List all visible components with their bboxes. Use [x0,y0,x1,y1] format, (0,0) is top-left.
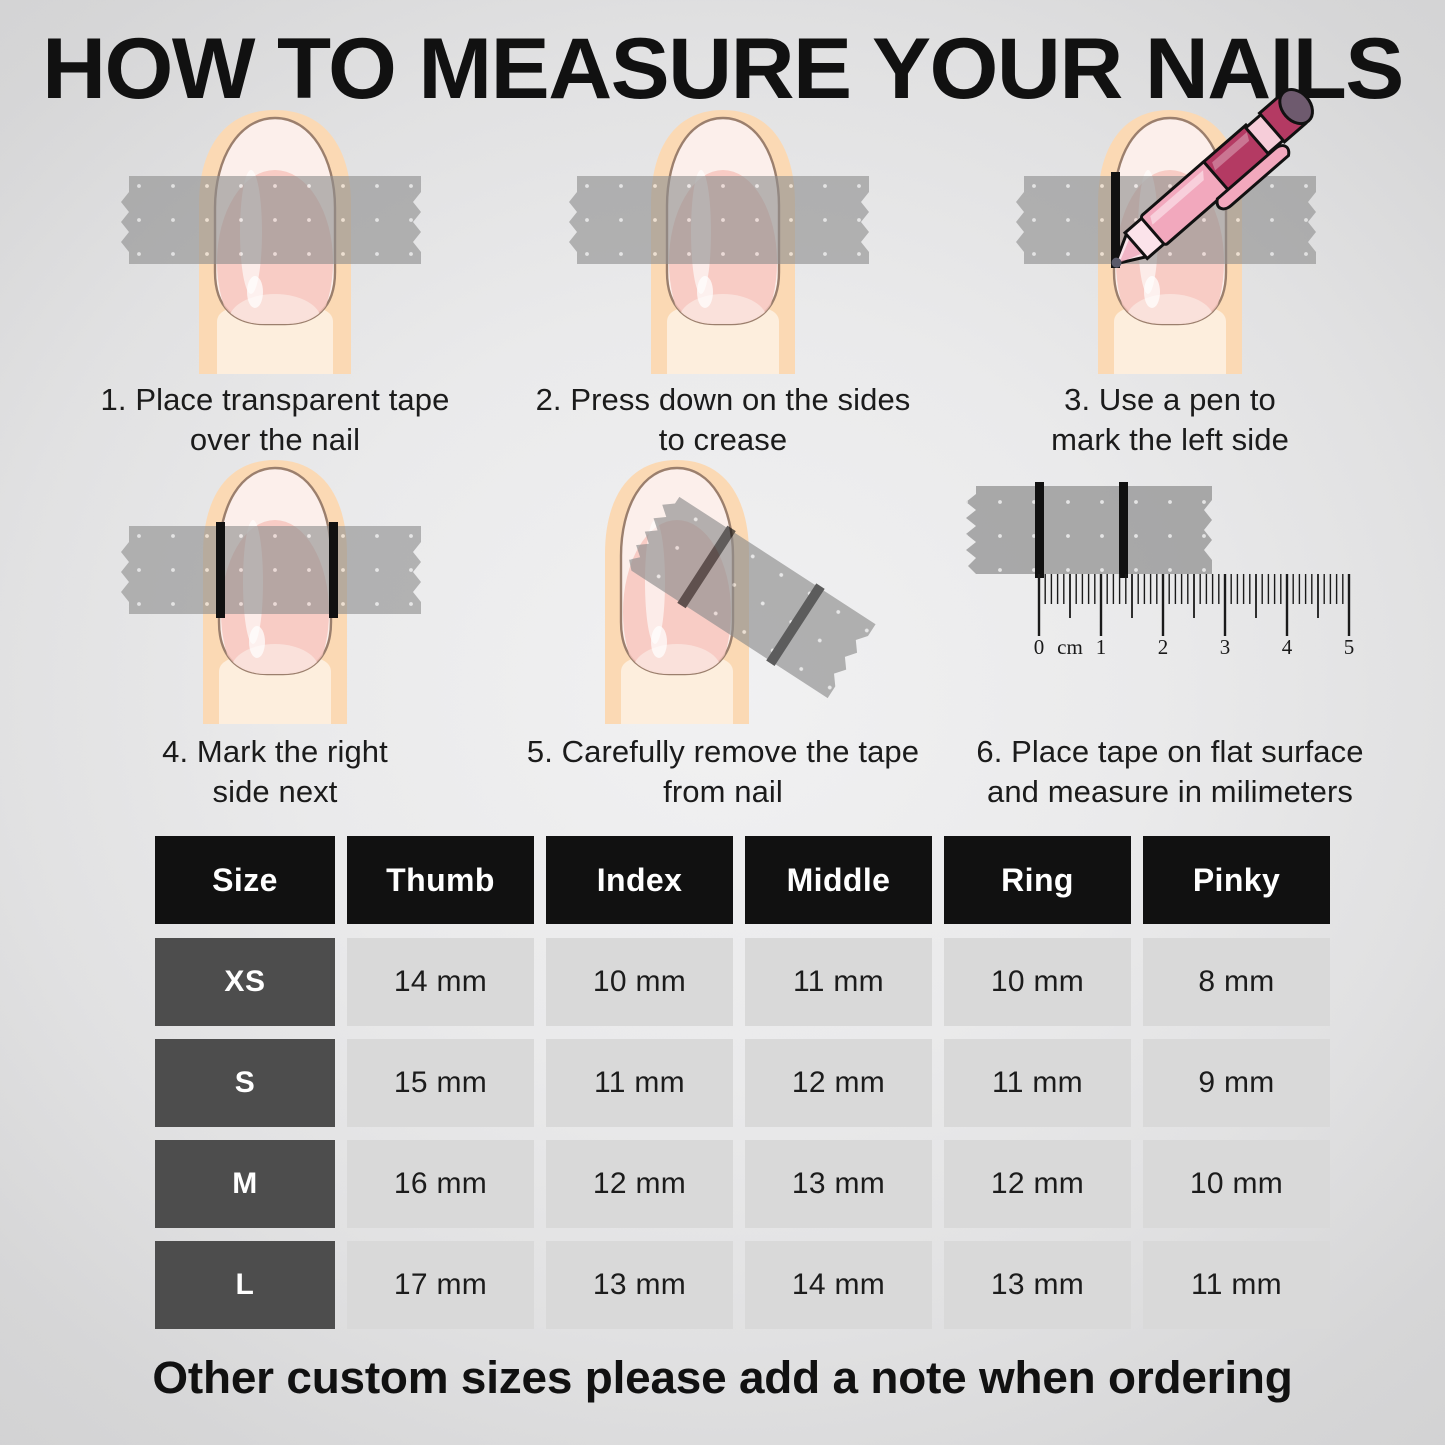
size-label-s: S [155,1039,335,1127]
table-header-size: Size [155,836,335,924]
step-3-caption-line1: 3. Use a pen to [960,380,1380,420]
step-5-illustration [513,462,933,724]
pen-mark-right [329,522,338,618]
cell-m-middle: 13 mm [745,1140,932,1228]
step-2-illustration [513,112,933,374]
table-row: M 16 mm 12 mm 13 mm 12 mm 10 mm [155,1140,1330,1228]
table-row: XS 14 mm 10 mm 11 mm 10 mm 8 mm [155,938,1330,1026]
step-3-caption: 3. Use a pen to mark the left side [960,380,1380,461]
step-6-caption-line2: and measure in milimeters [960,772,1380,812]
cell-s-ring: 11 mm [944,1039,1131,1127]
cell-s-thumb: 15 mm [347,1039,534,1127]
step-2-caption-line1: 2. Press down on the sides [513,380,933,420]
step-4-caption-line1: 4. Mark the right [65,732,485,772]
step-3: 3. Use a pen to mark the left side [960,112,1380,461]
ruler-unit-label: cm [1057,635,1083,659]
step-5: 5. Carefully remove the tape from nail [513,462,933,813]
step-3-illustration [960,112,1380,374]
step-1-caption-line2: over the nail [65,420,485,460]
ruler-tick-4: 4 [1282,635,1293,659]
tape-strip [121,176,421,264]
cell-l-ring: 13 mm [944,1241,1131,1329]
cell-xs-middle: 11 mm [745,938,932,1026]
table-header-middle: Middle [745,836,932,924]
step-4-illustration [65,462,485,724]
step-1-caption-line1: 1. Place transparent tape [65,380,485,420]
size-label-xs: XS [155,938,335,1026]
cell-xs-pinky: 8 mm [1143,938,1330,1026]
table-header-row: Size Thumb Index Middle Ring Pinky [155,836,1330,924]
infographic-page: HOW TO MEASURE YOUR NAILS [0,0,1445,1445]
ruler-icon [1039,574,1349,636]
table-header-index: Index [546,836,733,924]
step-3-caption-line2: mark the left side [960,420,1380,460]
step-2-caption: 2. Press down on the sides to crease [513,380,933,461]
pen-mark-right [1119,482,1128,578]
footer-note: Other custom sizes please add a note whe… [0,1352,1445,1404]
ruler-tick-5: 5 [1344,635,1355,659]
ruler-tick-3: 3 [1220,635,1231,659]
table-row: L 17 mm 13 mm 14 mm 13 mm 11 mm [155,1241,1330,1329]
cell-s-middle: 12 mm [745,1039,932,1127]
cell-s-pinky: 9 mm [1143,1039,1330,1127]
ruler-labels: 0 cm 1 2 3 4 5 [1034,635,1355,659]
table-header-thumb: Thumb [347,836,534,924]
pen-mark-left [1035,482,1044,578]
cell-m-pinky: 10 mm [1143,1140,1330,1228]
step-2-caption-line2: to crease [513,420,933,460]
step-2: 2. Press down on the sides to crease [513,112,933,461]
cell-l-pinky: 11 mm [1143,1241,1330,1329]
step-1-caption: 1. Place transparent tape over the nail [65,380,485,461]
step-6-caption-line1: 6. Place tape on flat surface [960,732,1380,772]
size-label-m: M [155,1140,335,1228]
size-table: Size Thumb Index Middle Ring Pinky XS 14… [155,836,1330,1342]
step-5-caption-line1: 5. Carefully remove the tape [513,732,933,772]
cell-xs-ring: 10 mm [944,938,1131,1026]
step-4: 4. Mark the right side next [65,462,485,813]
ruler-tick-2: 2 [1158,635,1169,659]
step-6-caption: 6. Place tape on flat surface and measur… [960,732,1380,813]
tape-strip [121,526,421,614]
cell-xs-index: 10 mm [546,938,733,1026]
page-title: HOW TO MEASURE YOUR NAILS [0,26,1445,112]
step-1-illustration [65,112,485,374]
step-1: 1. Place transparent tape over the nail [65,112,485,461]
table-header-pinky: Pinky [1143,836,1330,924]
step-6-illustration: 0 cm 1 2 3 4 5 [960,462,1380,724]
tape-strip [966,486,1212,574]
step-4-caption-line2: side next [65,772,485,812]
cell-m-ring: 12 mm [944,1140,1131,1228]
step-4-caption: 4. Mark the right side next [65,732,485,813]
cell-m-index: 12 mm [546,1140,733,1228]
table-header-ring: Ring [944,836,1131,924]
ruler-tick-0: 0 [1034,635,1045,659]
step-5-caption-line2: from nail [513,772,933,812]
tape-strip [569,176,869,264]
ruler-tick-1: 1 [1096,635,1107,659]
cell-xs-thumb: 14 mm [347,938,534,1026]
cell-m-thumb: 16 mm [347,1140,534,1228]
cell-l-thumb: 17 mm [347,1241,534,1329]
cell-l-index: 13 mm [546,1241,733,1329]
table-row: S 15 mm 11 mm 12 mm 11 mm 9 mm [155,1039,1330,1127]
steps-grid: 1. Place transparent tape over the nail [0,112,1445,824]
cell-l-middle: 14 mm [745,1241,932,1329]
cell-s-index: 11 mm [546,1039,733,1127]
step-6: 0 cm 1 2 3 4 5 6. Place tape on flat sur… [960,462,1380,813]
step-5-caption: 5. Carefully remove the tape from nail [513,732,933,813]
pen-mark-left [216,522,225,618]
size-label-l: L [155,1241,335,1329]
